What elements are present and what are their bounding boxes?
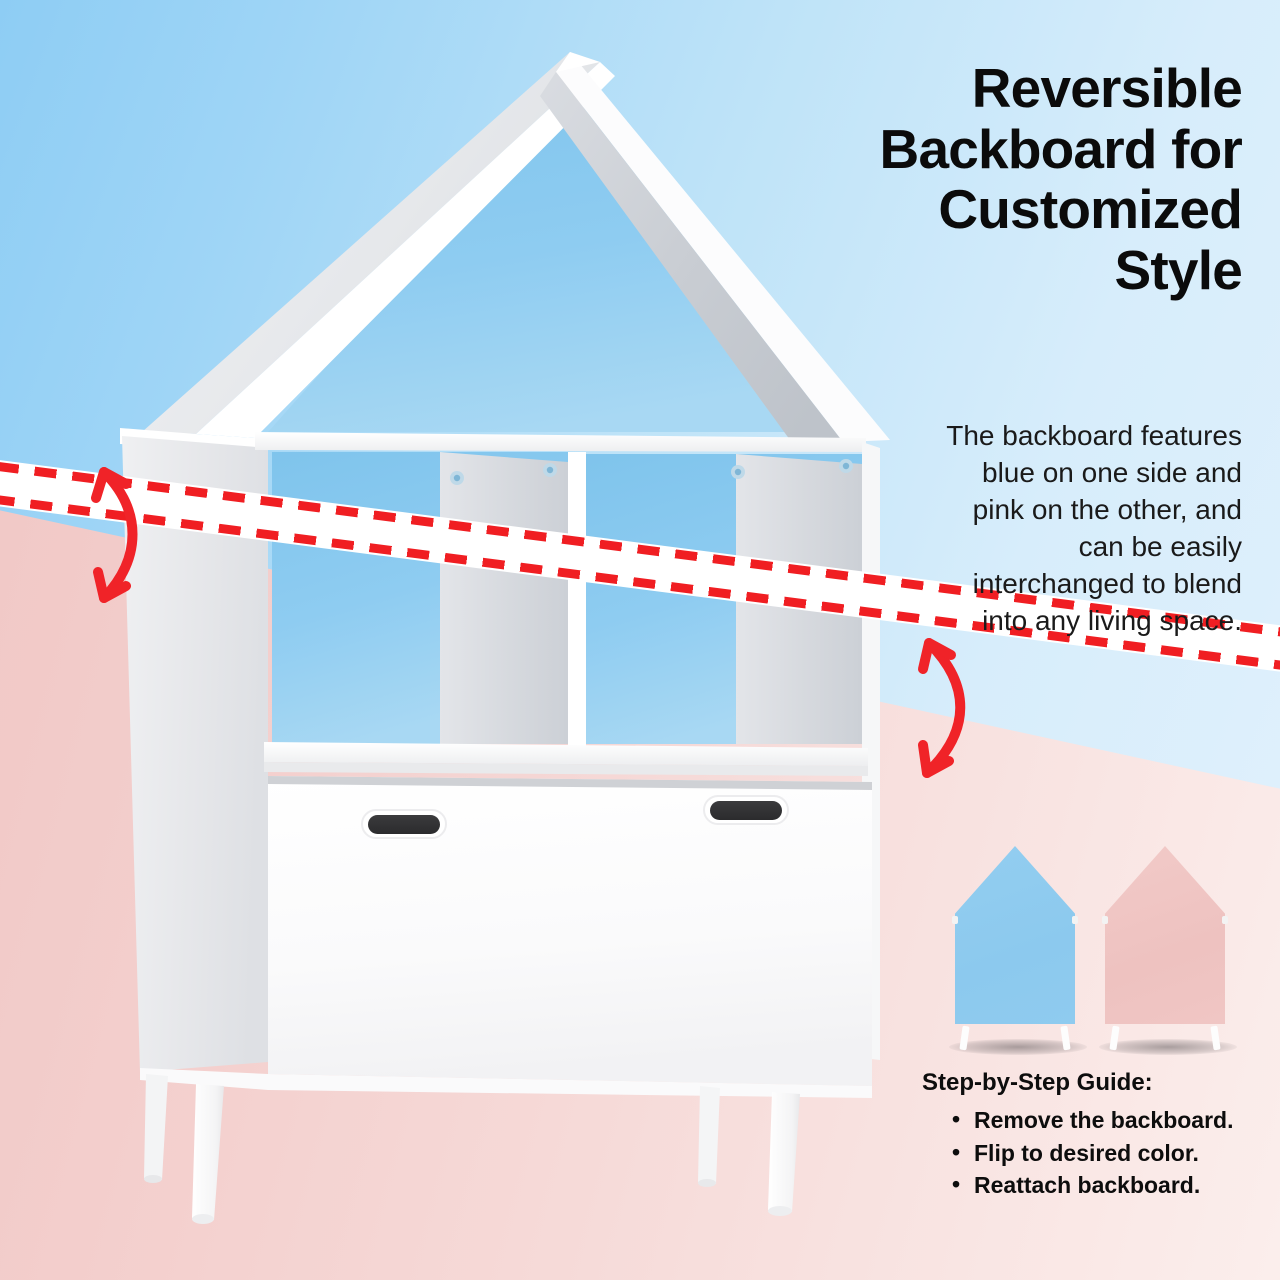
screw-icon (454, 475, 460, 481)
guide-step: Remove the backboard. (952, 1104, 1252, 1137)
leg-back-left (144, 1074, 168, 1183)
drawer-handle-left[interactable] (362, 810, 446, 838)
screw-icon (843, 463, 849, 469)
body-paragraph: The backboard features blue on one side … (927, 418, 1242, 640)
guide-title: Step-by-Step Guide: (922, 1068, 1252, 1098)
leg-front-left (192, 1084, 224, 1224)
leg-front-right (768, 1092, 800, 1216)
thumbnail-cap-left (1102, 916, 1108, 924)
thumbnail-body (955, 846, 1075, 1024)
cubby-left (272, 452, 568, 744)
cubby-divider-board (568, 452, 586, 746)
screw-icon (735, 469, 741, 475)
pink-backboard-thumbnail[interactable] (1105, 846, 1225, 1036)
backboard-color-options (955, 846, 1255, 1061)
guide-step-list: Remove the backboard. Flip to desired co… (922, 1104, 1252, 1202)
thumbnail-body (1105, 846, 1225, 1024)
thumbnail-cap-right (1222, 916, 1228, 924)
guide-step: Reattach backboard. (952, 1169, 1252, 1202)
cubby-left-inner-wall (440, 452, 568, 744)
thumbnail-cap-right (1072, 916, 1078, 924)
flip-arrow-right (885, 615, 1035, 795)
top-shelf-board (255, 432, 866, 452)
leg-back-right (698, 1086, 720, 1187)
flip-arrow-left (60, 440, 210, 620)
step-by-step-guide: Step-by-Step Guide: Remove the backboard… (922, 1068, 1252, 1202)
screw-icon (547, 467, 553, 473)
drawer-handle-right[interactable] (704, 796, 788, 824)
blue-backboard-thumbnail[interactable] (955, 846, 1075, 1036)
marketing-image: Reversible Backboard for Customized Styl… (0, 0, 1280, 1280)
middle-shelf-board (264, 742, 868, 766)
guide-step: Flip to desired color. (952, 1137, 1252, 1170)
headline: Reversible Backboard for Customized Styl… (822, 58, 1242, 300)
thumbnail-cap-left (952, 916, 958, 924)
